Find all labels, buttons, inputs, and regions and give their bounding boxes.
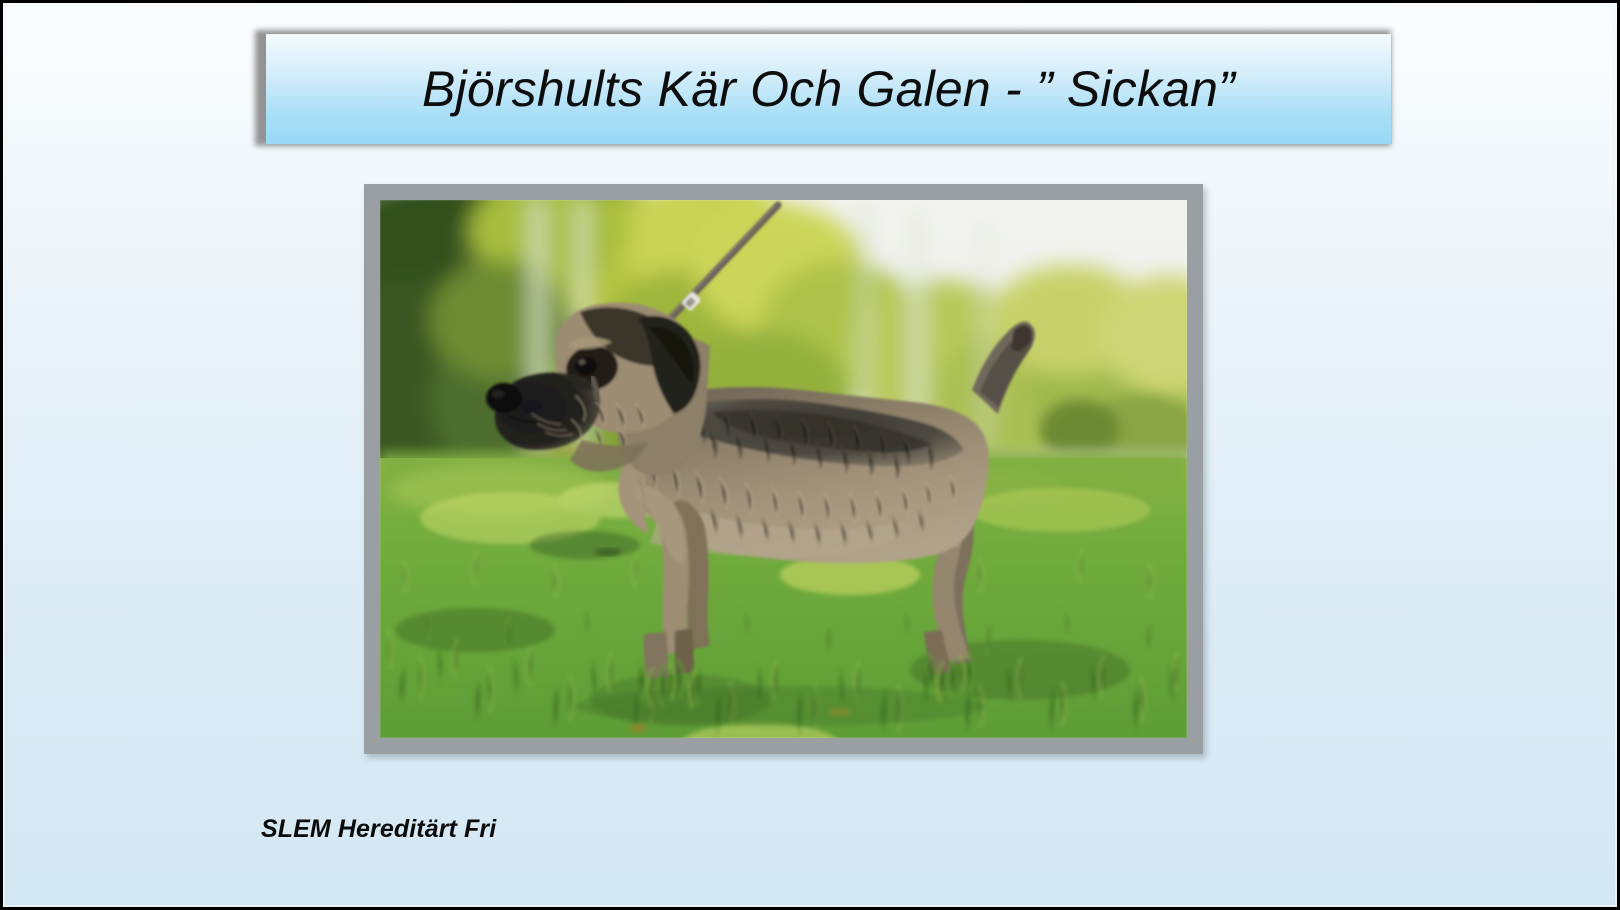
dog-photo-artwork xyxy=(380,200,1187,738)
page-title: Björshults Kär Och Galen - ” Sickan” xyxy=(422,64,1235,114)
title-banner-box: Björshults Kär Och Galen - ” Sickan” xyxy=(266,34,1392,144)
presentation-slide: Björshults Kär Och Galen - ” Sickan” xyxy=(0,0,1620,910)
slem-status-caption: SLEM Hereditärt Fri xyxy=(261,815,496,844)
title-banner: Björshults Kär Och Galen - ” Sickan” xyxy=(255,30,1391,146)
dog-photo xyxy=(380,200,1187,738)
photo-container xyxy=(364,184,1203,754)
